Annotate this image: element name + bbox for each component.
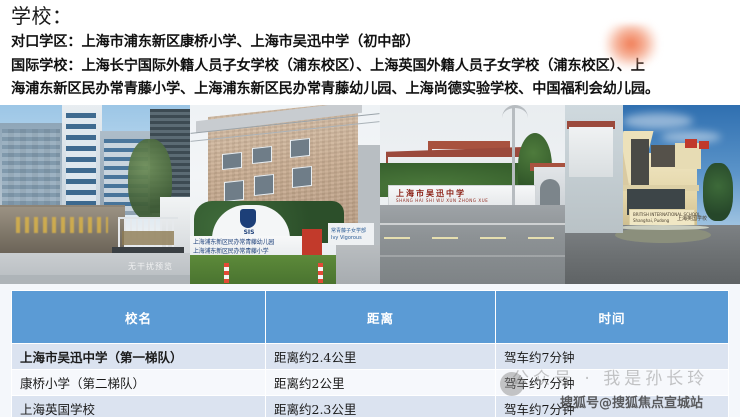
planter-box — [122, 231, 174, 245]
crest-label: SIS — [234, 229, 264, 236]
flag — [699, 141, 709, 149]
street-lamp-pole — [512, 107, 515, 207]
header-text-block: 学校： 对口学区：上海市浦东新区康桥小学、上海市吴迅中学（初中部） 国际学校：上… — [0, 0, 740, 105]
photo-watermark: 无干扰预览 — [128, 261, 173, 272]
sidewalk — [336, 245, 380, 284]
slide-page: 学校： 对口学区：上海市浦东新区康桥小学、上海市吴迅中学（初中部） 国际学校：上… — [0, 0, 740, 417]
tower-windows — [66, 113, 96, 209]
photo-wuxun-middle-school: 上海市吴迅中学 SHANG HAI SHI WU XUN ZHONG XUE — [380, 105, 565, 284]
cell-school: 康桥小学（第二梯队） — [12, 370, 266, 396]
traffic-cone — [318, 263, 323, 283]
photo-ivy-school: SIS 上海浦东新区民办常青藤幼儿园 上海浦东新区民办常青藤小学 常青藤子女学部… — [190, 105, 380, 284]
side-sign-line-1: 常青藤子女学部 — [331, 227, 366, 234]
sign-line-cn: 上海英国学校 — [677, 215, 707, 222]
window — [290, 138, 310, 158]
cell-distance: 距离约2公里 — [266, 370, 496, 396]
dark-facade-panel — [631, 139, 649, 187]
wall-sign-pinyin: SHANG HAI SHI WU XUN ZHONG XUE — [396, 198, 488, 203]
glass-facade — [2, 129, 60, 209]
photo-british-international-school: BRITISH INTERNATIONAL SCHOOL Shanghai, P… — [565, 105, 740, 284]
side-sign-line-2: Ivy Vigorous — [331, 235, 362, 241]
school-crest-icon — [240, 209, 256, 228]
column-header-time: 时间 — [496, 291, 729, 344]
window — [254, 174, 274, 196]
page-title: 学校： — [11, 4, 73, 28]
tree — [703, 163, 733, 221]
column-header-distance: 距离 — [266, 291, 496, 344]
band-line-1: 上海浦东新区民办常青藤幼儿园 — [193, 237, 274, 246]
international-schools-line-2: 海浦东新区民办常青藤小学、上海浦东新区民办常青藤幼儿园、上海尚德实验学校、中国福… — [11, 79, 659, 100]
road-dash — [384, 237, 410, 239]
traffic-cone — [224, 263, 229, 283]
road-line — [380, 223, 565, 225]
adjacent-building — [569, 127, 613, 177]
gate-arch — [540, 179, 560, 207]
table-header-row: 校名 距离 时间 — [12, 291, 729, 344]
road-dash — [528, 237, 554, 239]
band-line-2: 上海浦东新区民办常青藤小学 — [193, 246, 268, 255]
dark-facade-panel — [651, 145, 677, 167]
cell-school: 上海市吴迅中学（第一梯队） — [12, 344, 266, 370]
photo-shangde-experimental-school: 无干扰预览 — [0, 105, 190, 284]
sign-line-2: Shanghai, Pudong — [633, 218, 669, 223]
photo-strip: 无干扰预览 SIS 上海浦东新区民办常青藤幼儿园 上海浦东新区民办常青藤小学 — [0, 105, 740, 284]
cell-school: 上海英国学校 — [12, 396, 266, 417]
international-schools-line-1: 国际学校：上海长宁国际外籍人员子女学校（浦东校区）、上海英国外籍人员子女学校（浦… — [11, 56, 645, 77]
kerb — [617, 225, 709, 230]
watermark-footer: 搜狐号@搜狐焦点宣城站 — [560, 392, 703, 411]
road-line — [380, 255, 565, 257]
column-header-school: 校名 — [12, 291, 266, 344]
cell-distance: 距离约2.4公里 — [266, 344, 496, 370]
window — [222, 152, 242, 170]
cloud — [623, 113, 693, 129]
window — [292, 166, 312, 188]
window — [224, 180, 244, 202]
school-district-line: 对口学区：上海市浦东新区康桥小学、上海市吴迅中学（初中部） — [11, 32, 420, 53]
road-edge — [0, 275, 190, 284]
watermark-overlay: 公众号 · 我是孙长玲 — [512, 364, 708, 389]
road-dash — [480, 237, 506, 239]
window — [252, 146, 272, 164]
road — [380, 205, 565, 284]
flag — [685, 139, 697, 148]
wall-sign-text — [16, 217, 108, 233]
cell-distance: 距离约2.3公里 — [266, 396, 496, 417]
road-dash — [432, 237, 458, 239]
